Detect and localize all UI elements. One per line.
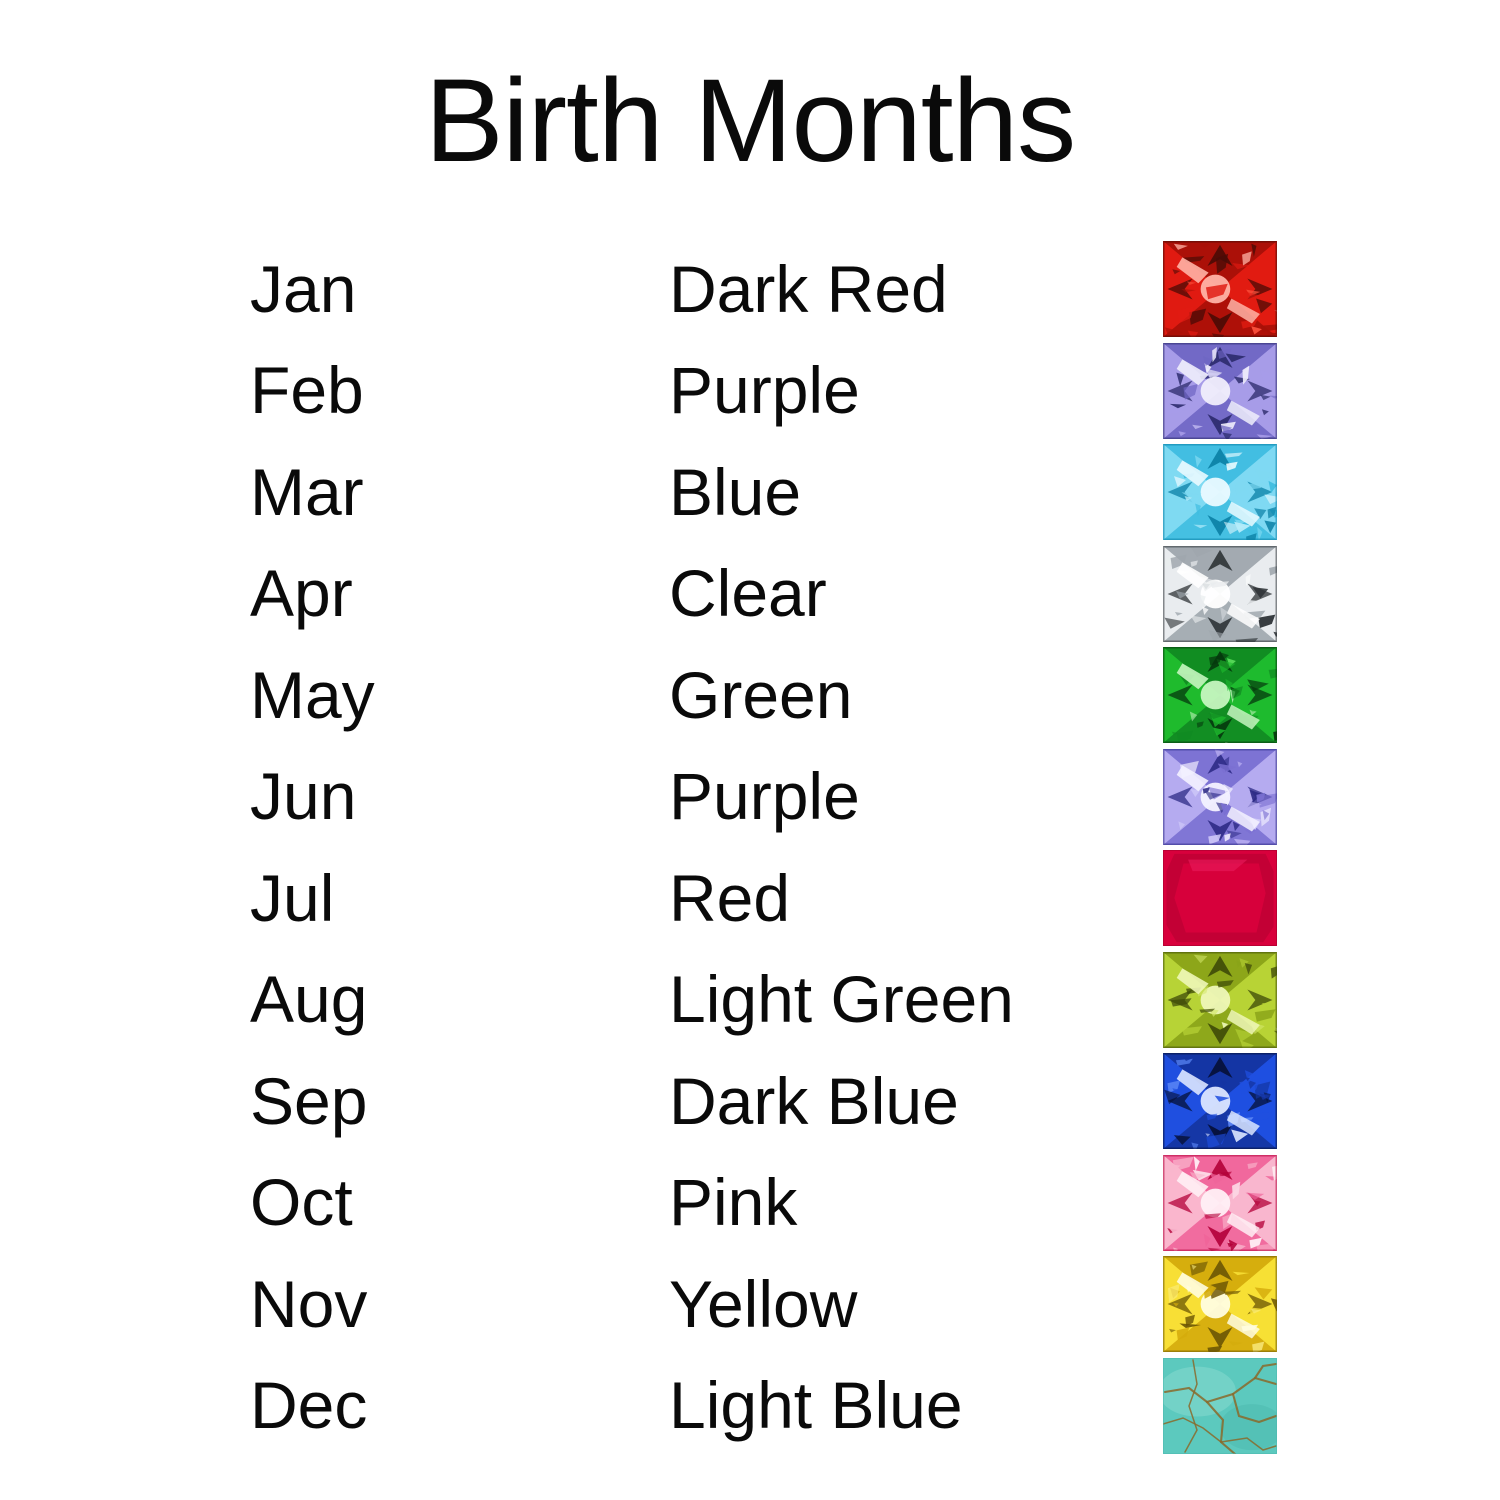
month-label: Oct bbox=[250, 1152, 630, 1254]
ruby-gem-icon bbox=[1163, 850, 1277, 946]
table-row: AprClear bbox=[0, 543, 1500, 645]
color-name-label: Yellow bbox=[669, 1253, 1139, 1355]
sapphire-gem-icon bbox=[1163, 1053, 1277, 1149]
color-name-label: Purple bbox=[669, 746, 1139, 848]
month-label: Jul bbox=[250, 847, 630, 949]
month-label: May bbox=[250, 644, 630, 746]
tourmaline-gem-icon bbox=[1163, 1155, 1277, 1251]
color-name-label: Dark Blue bbox=[669, 1050, 1139, 1152]
month-label: Aug bbox=[250, 949, 630, 1051]
table-row: DecLight Blue bbox=[0, 1355, 1500, 1457]
month-label: Feb bbox=[250, 340, 630, 442]
amethyst-gem-icon bbox=[1163, 343, 1277, 439]
color-name-label: Purple bbox=[669, 340, 1139, 442]
table-row: MayGreen bbox=[0, 644, 1500, 746]
table-row: AugLight Green bbox=[0, 949, 1500, 1051]
aquamarine-gem-icon bbox=[1163, 444, 1277, 540]
turquoise-gem-icon bbox=[1163, 1358, 1277, 1454]
color-name-label: Light Green bbox=[669, 949, 1139, 1051]
table-row: FebPurple bbox=[0, 340, 1500, 442]
color-name-label: Dark Red bbox=[669, 238, 1139, 340]
month-label: Nov bbox=[250, 1253, 630, 1355]
alexandrite-gem-icon bbox=[1163, 749, 1277, 845]
table-row: MarBlue bbox=[0, 441, 1500, 543]
emerald-gem-icon bbox=[1163, 647, 1277, 743]
peridot-gem-icon bbox=[1163, 952, 1277, 1048]
table-row: JulRed bbox=[0, 847, 1500, 949]
citrine-gem-icon bbox=[1163, 1256, 1277, 1352]
birth-months-table: JanDark RedFebPurpleMarBlueAprClearMayGr… bbox=[0, 238, 1500, 1456]
color-name-label: Blue bbox=[669, 441, 1139, 543]
color-name-label: Red bbox=[669, 847, 1139, 949]
month-label: Dec bbox=[250, 1355, 630, 1457]
table-row: NovYellow bbox=[0, 1253, 1500, 1355]
color-name-label: Light Blue bbox=[669, 1355, 1139, 1457]
table-row: OctPink bbox=[0, 1152, 1500, 1254]
color-name-label: Green bbox=[669, 644, 1139, 746]
month-label: Jan bbox=[250, 238, 630, 340]
month-label: Sep bbox=[250, 1050, 630, 1152]
table-row: SepDark Blue bbox=[0, 1050, 1500, 1152]
table-row: JunPurple bbox=[0, 746, 1500, 848]
garnet-gem-icon bbox=[1163, 241, 1277, 337]
color-name-label: Pink bbox=[669, 1152, 1139, 1254]
month-label: Jun bbox=[250, 746, 630, 848]
month-label: Mar bbox=[250, 441, 630, 543]
month-label: Apr bbox=[250, 543, 630, 645]
page-title: Birth Months bbox=[0, 62, 1500, 180]
birth-months-page: Birth Months JanDark RedFebPurpleMarBlue… bbox=[0, 0, 1500, 1500]
diamond-gem-icon bbox=[1163, 546, 1277, 642]
table-row: JanDark Red bbox=[0, 238, 1500, 340]
color-name-label: Clear bbox=[669, 543, 1139, 645]
